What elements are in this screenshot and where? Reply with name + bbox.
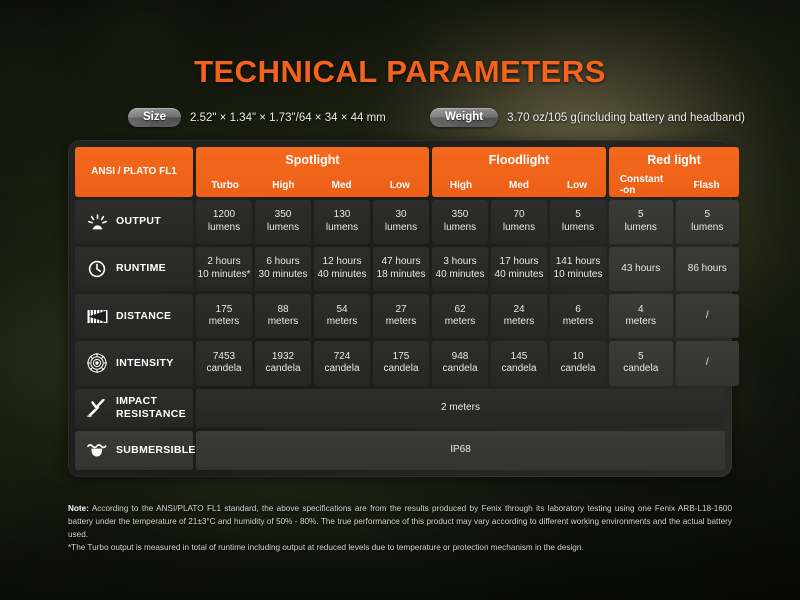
cell-output-spot-med: 130lumens bbox=[314, 200, 370, 244]
size-spec: Size 2.52" × 1.34" × 1.73"/64 × 34 × 44 … bbox=[128, 108, 386, 127]
footnote-prefix: Note: bbox=[68, 504, 89, 513]
row-label-intensity: INTENSITY bbox=[75, 341, 193, 385]
table-corner-label: ANSI / PLATO FL1 bbox=[75, 147, 193, 197]
clock-icon bbox=[86, 260, 108, 278]
cell-intensity-spot-high: 1932candela bbox=[255, 341, 311, 385]
table-row: OUTPUT 1200lumens 350lumens 130lumens 30… bbox=[75, 200, 725, 244]
beam-distance-icon bbox=[86, 309, 108, 324]
impact-resistance-icon bbox=[86, 399, 108, 417]
row-label-text: INTENSITY bbox=[116, 357, 174, 370]
cell-runtime-flash: 86 hours bbox=[676, 247, 740, 291]
row-label-text: RUNTIME bbox=[116, 262, 166, 275]
mode-header-spot-med: Med bbox=[313, 173, 371, 197]
cell-runtime-turbo: 2 hours10 minutes* bbox=[196, 247, 252, 291]
cell-runtime-spot-low: 47 hours18 minutes bbox=[373, 247, 429, 291]
cell-runtime-spot-med: 12 hours40 minutes bbox=[314, 247, 370, 291]
cell-distance-spot-med: 54meters bbox=[314, 294, 370, 338]
row-label-text: OUTPUT bbox=[116, 215, 161, 228]
cell-distance-spot-high: 88meters bbox=[255, 294, 311, 338]
mode-header-turbo: Turbo bbox=[196, 173, 254, 197]
mode-header-spot-high: High bbox=[254, 173, 312, 197]
cell-runtime-constant-on: 43 hours bbox=[609, 247, 673, 291]
table-grid: ANSI / PLATO FL1 Spotlight Turbo High Me… bbox=[75, 147, 725, 470]
target-intensity-icon bbox=[86, 353, 108, 373]
footnote-turbo-note: *The Turbo output is measured in total o… bbox=[68, 542, 732, 555]
cell-output-flood-low: 5lumens bbox=[550, 200, 606, 244]
cell-intensity-spot-low: 175candela bbox=[373, 341, 429, 385]
cell-runtime-flood-low: 141 hours10 minutes bbox=[550, 247, 606, 291]
row-label-runtime: RUNTIME bbox=[75, 247, 193, 291]
mode-header-flood-low: Low bbox=[548, 173, 606, 197]
column-group-spotlight: Spotlight Turbo High Med Low bbox=[196, 147, 429, 197]
cell-distance-spot-low: 27meters bbox=[373, 294, 429, 338]
cell-distance-flood-med: 24meters bbox=[491, 294, 547, 338]
size-value: 2.52" × 1.34" × 1.73"/64 × 34 × 44 mm bbox=[190, 112, 386, 124]
cell-submersible-value: IP68 bbox=[196, 431, 725, 470]
column-group-floodlight: Floodlight High Med Low bbox=[432, 147, 606, 197]
table-row: RUNTIME 2 hours10 minutes* 6 hours30 min… bbox=[75, 247, 725, 291]
row-output-redlight: 5lumens 5lumens bbox=[609, 200, 739, 244]
footnote: Note: According to the ANSI/PLATO FL1 st… bbox=[68, 503, 732, 555]
cell-intensity-flood-med: 145candela bbox=[491, 341, 547, 385]
row-output-floodlight: 350lumens 70lumens 5lumens bbox=[432, 200, 606, 244]
water-submersible-icon bbox=[86, 443, 108, 457]
weight-value: 3.70 oz/105 g(including battery and head… bbox=[507, 112, 745, 124]
light-burst-icon bbox=[86, 214, 108, 231]
cell-output-flood-med: 70lumens bbox=[491, 200, 547, 244]
row-runtime-redlight: 43 hours 86 hours bbox=[609, 247, 739, 291]
table-row: INTENSITY 7453candela 1932candela 724can… bbox=[75, 341, 725, 385]
cell-output-turbo: 1200lumens bbox=[196, 200, 252, 244]
group-title-spotlight: Spotlight bbox=[196, 147, 429, 173]
group-modes-spotlight: Turbo High Med Low bbox=[196, 173, 429, 197]
cell-intensity-turbo: 7453candela bbox=[196, 341, 252, 385]
weight-pill-label: Weight bbox=[430, 108, 498, 127]
row-intensity-redlight: 5candela / bbox=[609, 341, 739, 385]
row-label-text: DISTANCE bbox=[116, 310, 171, 323]
cell-intensity-flood-high: 948candela bbox=[432, 341, 488, 385]
footnote-body: According to the ANSI/PLATO FL1 standard… bbox=[68, 504, 732, 539]
cell-distance-flood-low: 6meters bbox=[550, 294, 606, 338]
group-title-redlight: Red light bbox=[609, 147, 739, 173]
row-distance-redlight: 4meters / bbox=[609, 294, 739, 338]
row-intensity-spotlight: 7453candela 1932candela 724candela 175ca… bbox=[196, 341, 429, 385]
group-modes-redlight: Constant-on Flash bbox=[609, 173, 739, 197]
cell-impact-resistance-value: 2 meters bbox=[196, 389, 725, 428]
cell-output-constant-on: 5lumens bbox=[609, 200, 673, 244]
group-modes-floodlight: High Med Low bbox=[432, 173, 606, 197]
row-output-spotlight: 1200lumens 350lumens 130lumens 30lumens bbox=[196, 200, 429, 244]
mode-header-flood-high: High bbox=[432, 173, 490, 197]
cell-runtime-flood-med: 17 hours40 minutes bbox=[491, 247, 547, 291]
row-label-output: OUTPUT bbox=[75, 200, 193, 244]
cell-distance-turbo: 175meters bbox=[196, 294, 252, 338]
cell-distance-flash: / bbox=[676, 294, 740, 338]
cell-intensity-spot-med: 724candela bbox=[314, 341, 370, 385]
page-title: TECHNICAL PARAMETERS bbox=[0, 54, 800, 90]
technical-parameters-table: ANSI / PLATO FL1 Spotlight Turbo High Me… bbox=[68, 140, 732, 477]
cell-distance-flood-high: 62meters bbox=[432, 294, 488, 338]
table-header-row: ANSI / PLATO FL1 Spotlight Turbo High Me… bbox=[75, 147, 725, 197]
row-label-submersible: SUBMERSIBLE bbox=[75, 431, 193, 470]
cell-intensity-constant-on: 5candela bbox=[609, 341, 673, 385]
mode-header-spot-low: Low bbox=[371, 173, 429, 197]
cell-output-flood-high: 350lumens bbox=[432, 200, 488, 244]
row-label-text: IMPACTRESISTANCE bbox=[116, 395, 186, 422]
mode-header-constant-on: Constant-on bbox=[609, 173, 674, 197]
row-distance-spotlight: 175meters 88meters 54meters 27meters bbox=[196, 294, 429, 338]
cell-runtime-spot-high: 6 hours30 minutes bbox=[255, 247, 311, 291]
size-pill-label: Size bbox=[128, 108, 181, 127]
footnote-main: Note: According to the ANSI/PLATO FL1 st… bbox=[68, 503, 732, 542]
cell-output-spot-high: 350lumens bbox=[255, 200, 311, 244]
row-intensity-floodlight: 948candela 145candela 10candela bbox=[432, 341, 606, 385]
row-label-impact-resistance: IMPACTRESISTANCE bbox=[75, 389, 193, 428]
cell-distance-constant-on: 4meters bbox=[609, 294, 673, 338]
cell-intensity-flood-low: 10candela bbox=[550, 341, 606, 385]
table-row: SUBMERSIBLE IP68 bbox=[75, 431, 725, 470]
weight-spec: Weight 3.70 oz/105 g(including battery a… bbox=[430, 108, 745, 127]
row-label-text: SUBMERSIBLE bbox=[116, 444, 196, 457]
cell-output-flash: 5lumens bbox=[676, 200, 740, 244]
column-group-redlight: Red light Constant-on Flash bbox=[609, 147, 739, 197]
row-label-distance: DISTANCE bbox=[75, 294, 193, 338]
table-row: IMPACTRESISTANCE 2 meters bbox=[75, 389, 725, 428]
group-title-floodlight: Floodlight bbox=[432, 147, 606, 173]
spec-summary-row: Size 2.52" × 1.34" × 1.73"/64 × 34 × 44 … bbox=[0, 108, 800, 130]
row-distance-floodlight: 62meters 24meters 6meters bbox=[432, 294, 606, 338]
table-row: DISTANCE 175meters 88meters 54meters 27m… bbox=[75, 294, 725, 338]
cell-runtime-flood-high: 3 hours40 minutes bbox=[432, 247, 488, 291]
cell-output-spot-low: 30lumens bbox=[373, 200, 429, 244]
cell-intensity-flash: / bbox=[676, 341, 740, 385]
mode-header-flood-med: Med bbox=[490, 173, 548, 197]
row-runtime-spotlight: 2 hours10 minutes* 6 hours30 minutes 12 … bbox=[196, 247, 429, 291]
row-runtime-floodlight: 3 hours40 minutes 17 hours40 minutes 141… bbox=[432, 247, 606, 291]
mode-header-flash: Flash bbox=[674, 173, 739, 197]
